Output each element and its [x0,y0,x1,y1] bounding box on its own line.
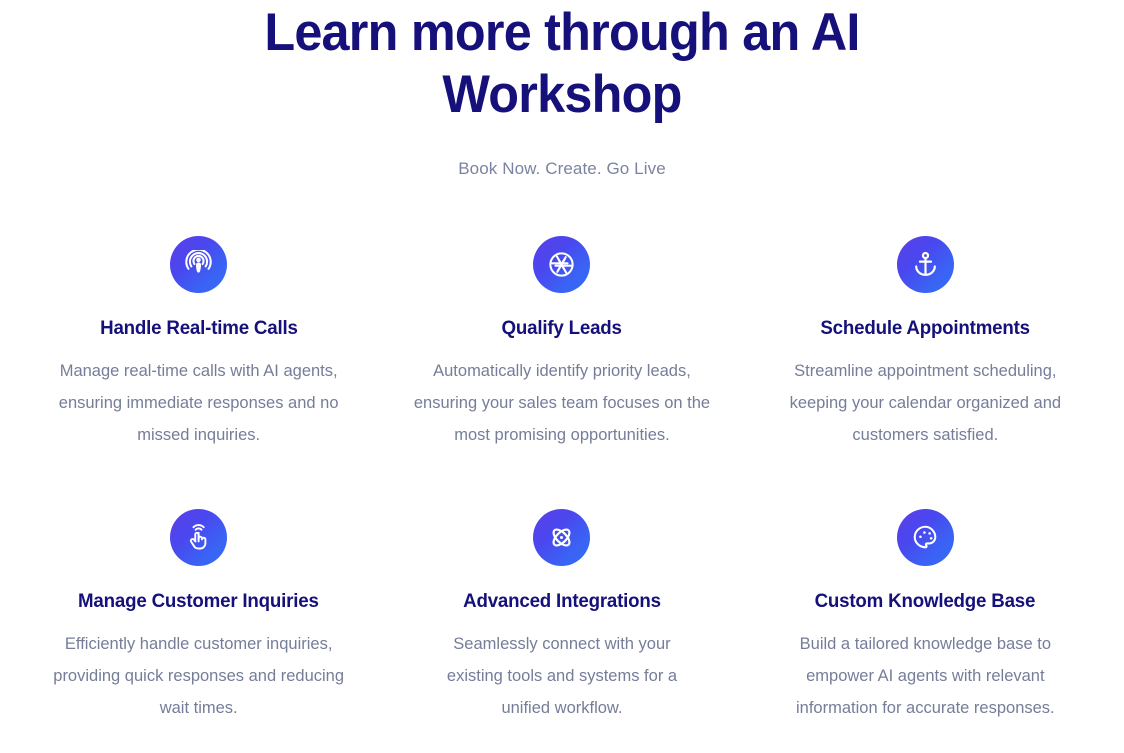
feature-title: Custom Knowledge Base [815,588,1036,614]
page-subtitle: Book Now. Create. Go Live [0,157,1124,181]
feature-card-schedule-appointments: Schedule Appointments Streamline appoint… [744,236,1107,451]
atom-icon [533,509,590,566]
feature-description: Build a tailored knowledge base to empow… [772,628,1078,724]
palette-icon [897,509,954,566]
feature-card-manage-customer-inquiries: Manage Customer Inquiries Efficiently ha… [17,509,380,724]
feature-title: Advanced Integrations [463,588,661,614]
feature-description: Manage real-time calls with AI agents, e… [49,355,349,451]
feature-description: Streamline appointment scheduling, keepi… [772,355,1078,451]
feature-title: Handle Real-time Calls [100,315,298,341]
tap-gesture-icon [170,509,227,566]
aperture-icon [533,236,590,293]
page-title-line-2: Workshop [442,65,681,124]
feature-grid: Handle Real-time Calls Manage real-time … [17,181,1107,724]
podcast-icon [170,236,227,293]
feature-description: Automatically identify priority leads, e… [409,355,715,451]
feature-card-qualify-leads: Qualify Leads Automatically identify pri… [380,236,743,451]
page-title: Learn more through an AIWorkshop [201,2,923,126]
anchor-icon [897,236,954,293]
feature-card-advanced-integrations: Advanced Integrations Seamlessly connect… [380,509,743,724]
feature-title: Schedule Appointments [821,315,1031,341]
hero-header: Learn more through an AIWorkshop Book No… [0,0,1124,181]
feature-card-custom-knowledge-base: Custom Knowledge Base Build a tailored k… [744,509,1107,724]
landing-page-section: Learn more through an AIWorkshop Book No… [0,0,1124,753]
feature-description: Seamlessly connect with your existing to… [426,628,698,724]
feature-title: Qualify Leads [502,315,622,341]
feature-description: Efficiently handle customer inquiries, p… [43,628,355,724]
feature-card-handle-real-time-calls: Handle Real-time Calls Manage real-time … [17,236,380,451]
page-title-line-1: Learn more through an AI [264,3,859,62]
feature-title: Manage Customer Inquiries [78,588,319,614]
